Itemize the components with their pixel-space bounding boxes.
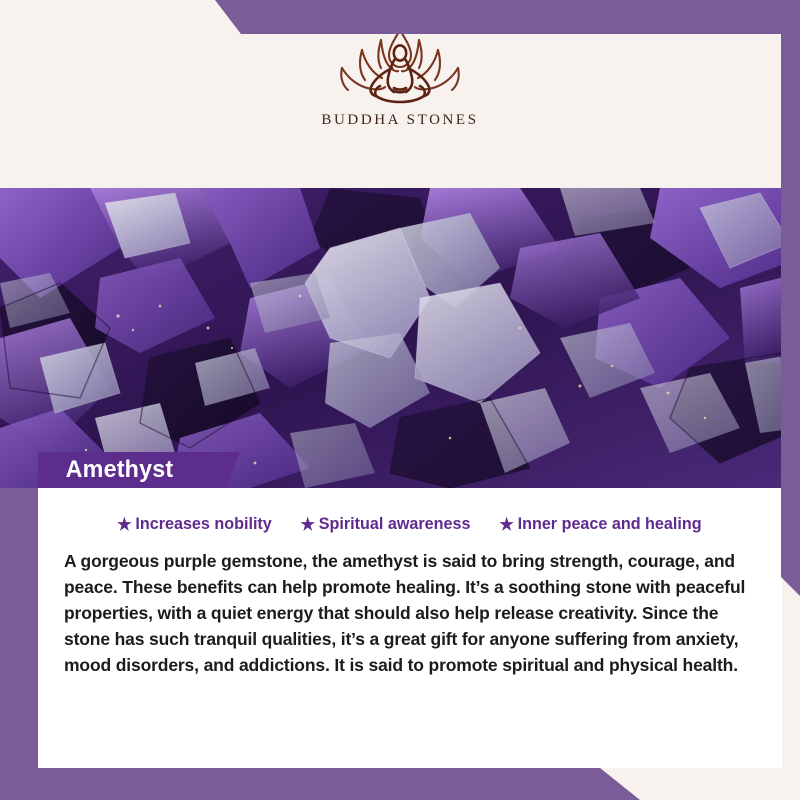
brand-logo: BUDDHA STONES [321,22,478,129]
lotus-meditation-icon [326,22,474,110]
star-icon: ★ [300,516,314,533]
decoration-right-bar [781,34,800,596]
benefit-label-1: Increases nobility [135,514,271,534]
decoration-bottom-band [0,768,640,800]
benefit-item-2: ★ Spiritual awareness [300,514,470,534]
benefits-list: ★ Increases nobility ★ Spiritual awarene… [60,488,760,534]
stone-description: A gorgeous purple gemstone, the amethyst… [60,548,760,678]
decoration-left-bar [0,488,38,800]
benefit-label-2: Spiritual awareness [318,514,470,534]
benefit-item-3: ★ Inner peace and healing [500,514,702,534]
stone-photo [0,188,800,488]
star-icon: ★ [500,516,514,533]
stone-name-banner: Amethyst [38,452,240,488]
description-section: ★ Increases nobility ★ Spiritual awarene… [38,488,782,768]
star-icon: ★ [117,516,131,533]
benefit-label-3: Inner peace and healing [518,514,702,534]
benefit-item-1: ★ Increases nobility [117,514,272,534]
stone-name: Amethyst [66,456,174,484]
infographic-page: BUDDHA STONES Stone Features & Benefits [0,0,800,800]
brand-name: BUDDHA STONES [321,112,478,129]
